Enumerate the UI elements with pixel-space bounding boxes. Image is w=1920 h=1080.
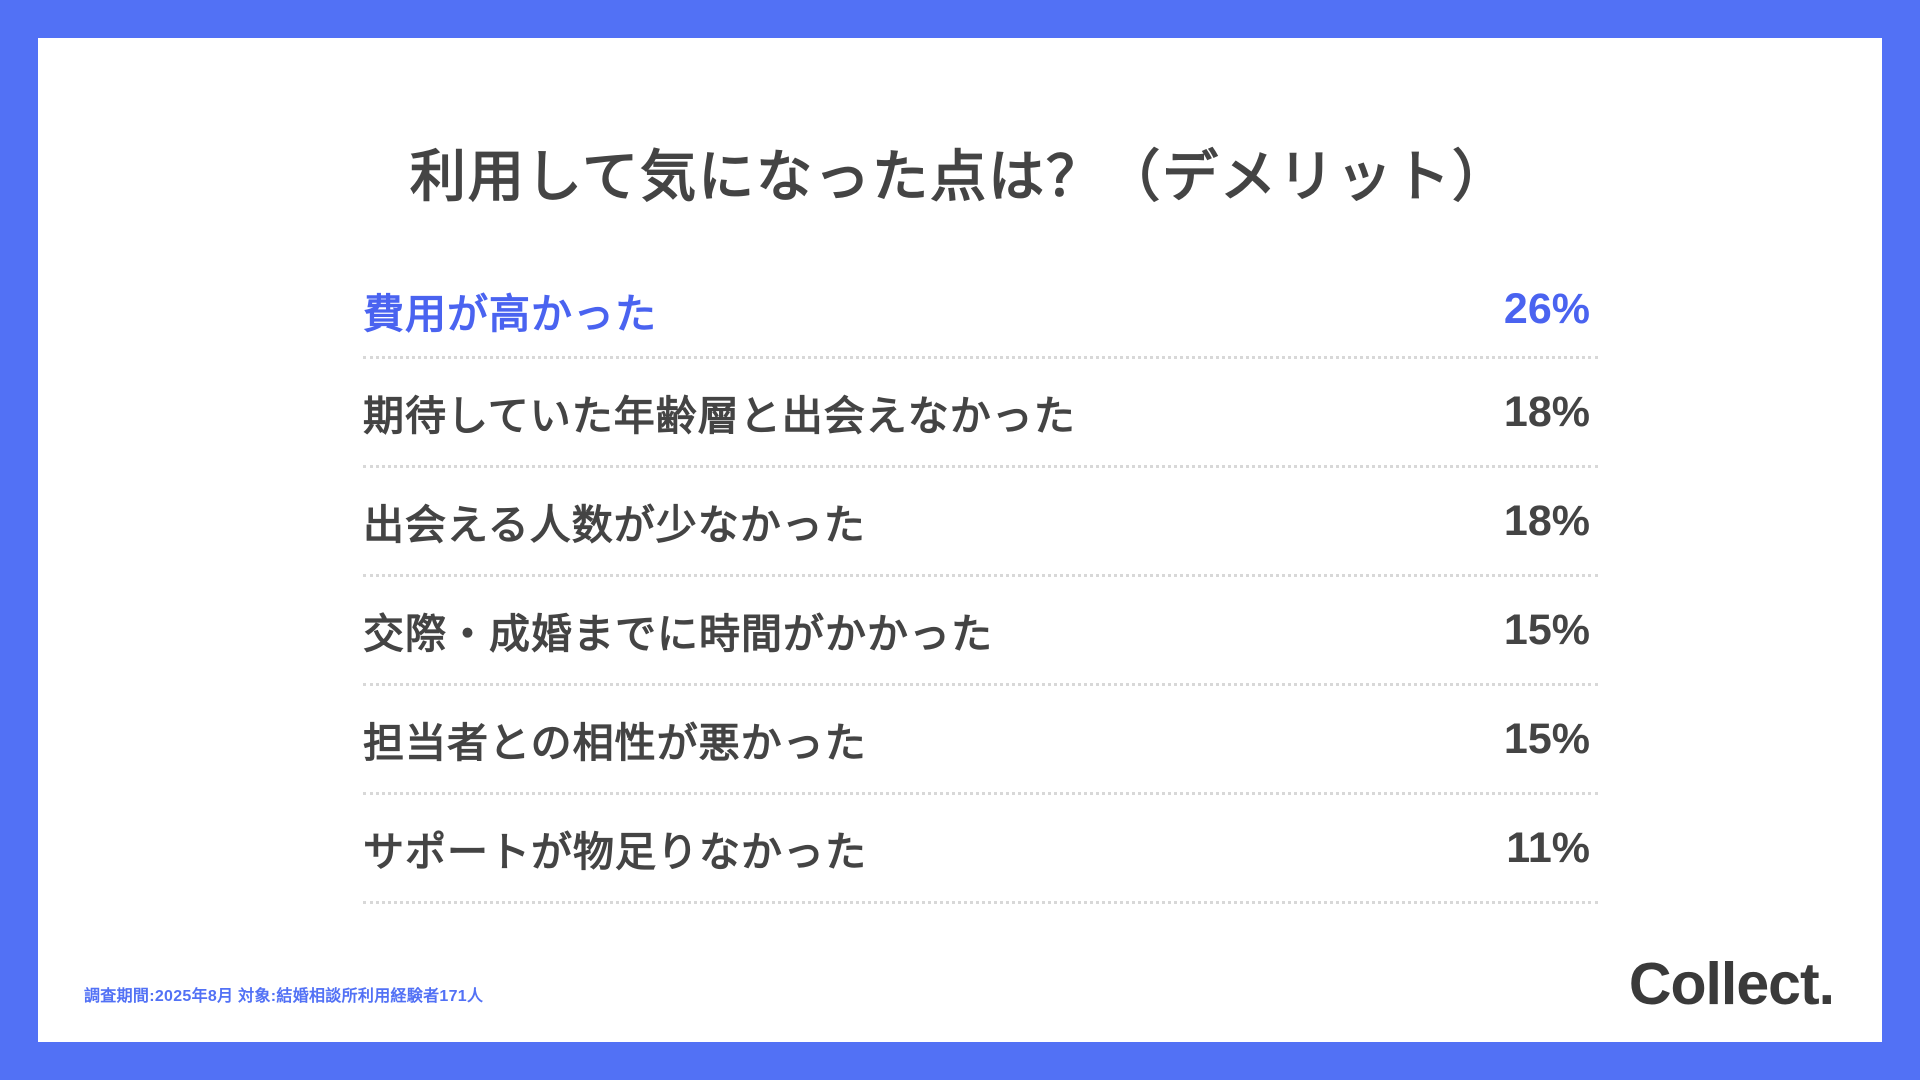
list-item-value: 11% bbox=[1506, 824, 1598, 873]
survey-result-list: 費用が高かった 26% 期待していた年齢層と出会えなかった 18% 出会える人数… bbox=[363, 263, 1598, 904]
list-item: 担当者との相性が悪かった 15% bbox=[363, 686, 1598, 795]
list-item-label: 費用が高かった bbox=[363, 280, 657, 340]
list-item-value: 15% bbox=[1504, 606, 1598, 655]
content-card: 利用して気になった点は？（デメリット） 費用が高かった 26% 期待していた年齢… bbox=[38, 38, 1882, 1042]
survey-footnote: 調査期間:2025年8月 対象:結婚相談所利用経験者171人 bbox=[84, 982, 483, 1006]
page-title: 利用して気になった点は？（デメリット） bbox=[38, 132, 1882, 213]
list-item: 費用が高かった 26% bbox=[363, 263, 1598, 359]
list-item-value: 26% bbox=[1504, 285, 1598, 334]
list-item: 出会える人数が少なかった 18% bbox=[363, 468, 1598, 577]
list-item-label: 出会える人数が少なかった bbox=[363, 491, 866, 551]
list-item-value: 18% bbox=[1504, 388, 1598, 437]
list-item-label: 担当者との相性が悪かった bbox=[363, 709, 867, 769]
list-item: サポートが物足りなかった 11% bbox=[363, 795, 1598, 904]
list-item-value: 15% bbox=[1504, 715, 1598, 764]
list-item: 期待していた年齢層と出会えなかった 18% bbox=[363, 359, 1598, 468]
list-item: 交際・成婚までに時間がかかった 15% bbox=[363, 577, 1598, 686]
slide-root: 利用して気になった点は？（デメリット） 費用が高かった 26% 期待していた年齢… bbox=[0, 0, 1920, 1080]
brand-logo: Collect. bbox=[1629, 950, 1834, 1018]
list-item-label: 交際・成婚までに時間がかかった bbox=[363, 600, 993, 660]
list-item-label: 期待していた年齢層と出会えなかった bbox=[363, 382, 1076, 442]
list-item-value: 18% bbox=[1504, 497, 1598, 546]
list-item-label: サポートが物足りなかった bbox=[363, 818, 867, 878]
